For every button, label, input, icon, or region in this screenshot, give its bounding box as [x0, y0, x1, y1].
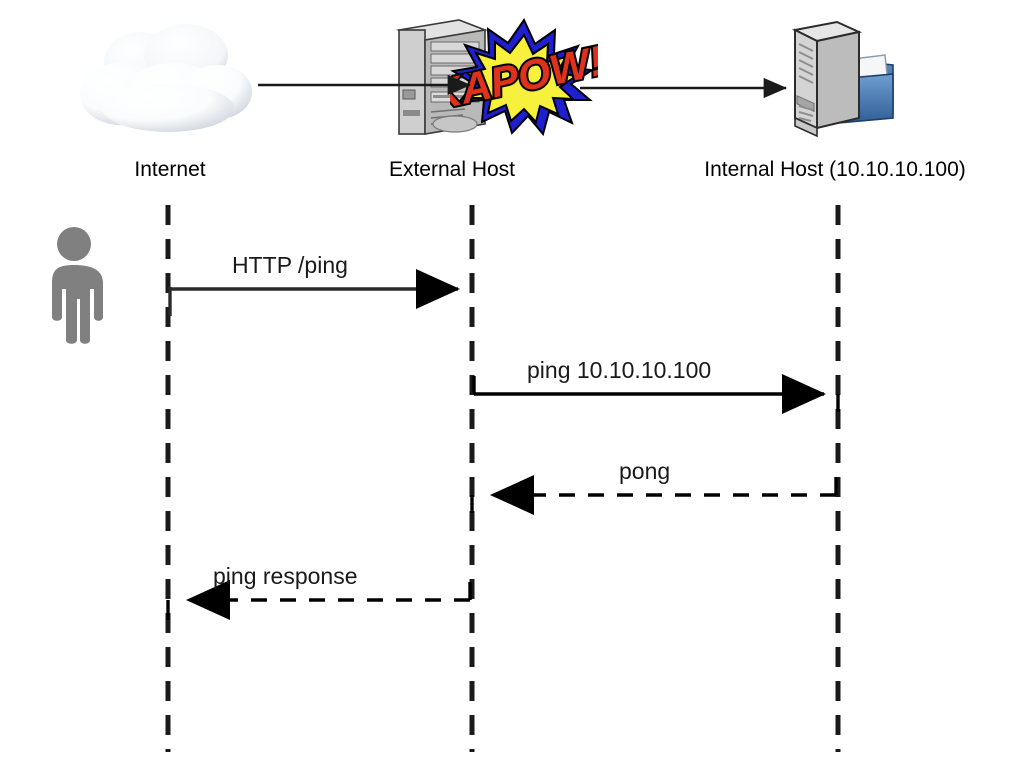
participant-label-internet: Internet: [134, 158, 205, 182]
message-label-pong: pong: [619, 458, 670, 485]
participant-label-external-host: External Host: [389, 158, 515, 182]
server-folder-icon: [775, 18, 895, 140]
sequence-diagram-canvas: KAPOW!: [0, 0, 1024, 768]
cloud-icon: [78, 22, 258, 137]
message-label-http-ping: HTTP /ping: [232, 252, 348, 279]
person-icon: [40, 225, 108, 345]
participant-label-internal-host: Internal Host (10.10.10.100): [704, 158, 966, 182]
message-arrow-http-ping: [170, 287, 458, 316]
message-label-ping-ip: ping 10.10.10.100: [527, 357, 711, 384]
kapow-burst-icon: KAPOW!: [450, 18, 598, 136]
message-label-ping-response: ping response: [213, 563, 358, 590]
